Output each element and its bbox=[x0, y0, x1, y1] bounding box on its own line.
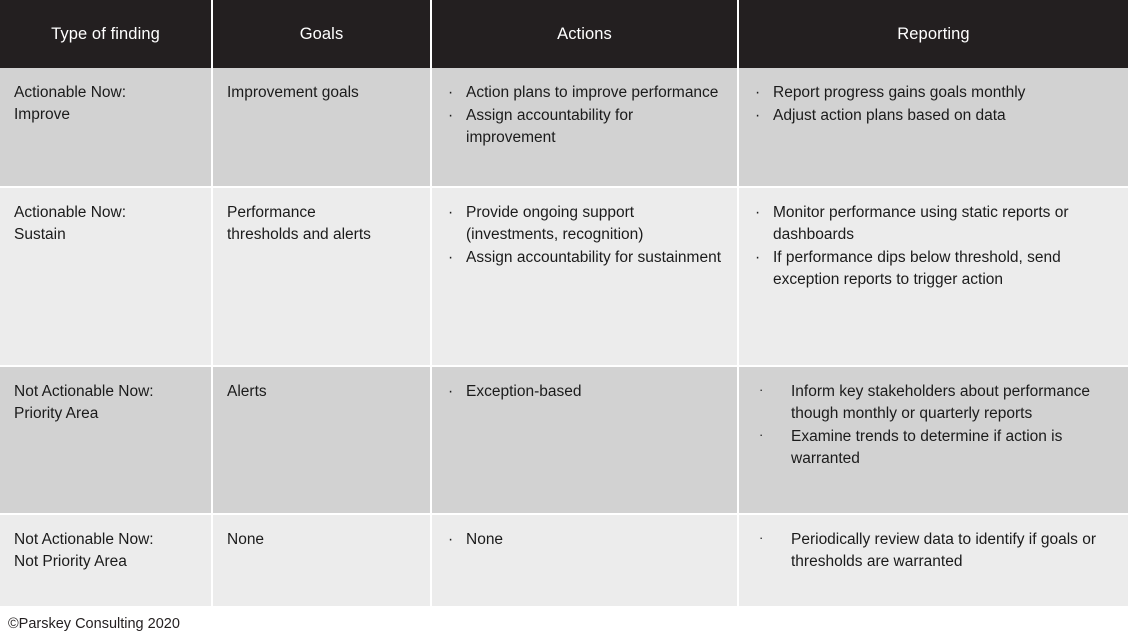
cell-actions: ·Provide ongoing support (investments, r… bbox=[432, 188, 739, 367]
cell-type-of-finding: Not Actionable Now: Priority Area bbox=[0, 367, 213, 515]
table-header-row: Type of finding Goals Actions Reporting bbox=[0, 0, 1128, 68]
bullet-dot-icon: · bbox=[448, 247, 453, 269]
actions-bullet-list: ·None bbox=[446, 529, 723, 551]
list-item-text: Examine trends to determine if action is… bbox=[791, 428, 1062, 467]
bullet-dot-icon: · bbox=[448, 82, 453, 104]
table-row: Actionable Now: Improve Improvement goal… bbox=[0, 68, 1128, 188]
reporting-bullet-list: ·Monitor performance using static report… bbox=[753, 202, 1114, 291]
type-of-finding-text: Actionable Now: Improve bbox=[14, 82, 197, 126]
list-item-text: Assign accountability for improvement bbox=[466, 107, 633, 146]
bullet-dot-icon: · bbox=[759, 529, 763, 547]
list-item: ·If performance dips below threshold, se… bbox=[753, 247, 1114, 291]
list-item-text: Exception-based bbox=[466, 383, 581, 400]
cell-type-of-finding: Actionable Now: Sustain bbox=[0, 188, 213, 367]
cell-reporting: ·Monitor performance using static report… bbox=[739, 188, 1128, 367]
list-item: ·Assign accountability for improvement bbox=[446, 105, 723, 149]
goals-text: None bbox=[227, 529, 416, 551]
actions-bullet-list: ·Action plans to improve performance ·As… bbox=[446, 82, 723, 149]
actions-bullet-list: ·Exception-based bbox=[446, 381, 723, 403]
cell-type-of-finding: Actionable Now: Improve bbox=[0, 68, 213, 188]
cell-actions: ·Exception-based bbox=[432, 367, 739, 515]
type-of-finding-text: Actionable Now: Sustain bbox=[14, 202, 197, 246]
actions-bullet-list: ·Provide ongoing support (investments, r… bbox=[446, 202, 723, 269]
bullet-dot-icon: · bbox=[755, 105, 760, 127]
reporting-bullet-list: ·Inform key stakeholders about performan… bbox=[753, 381, 1114, 470]
list-item: ·Provide ongoing support (investments, r… bbox=[446, 202, 723, 246]
bullet-dot-icon: · bbox=[759, 426, 763, 444]
copyright-note: ©Parskey Consulting 2020 bbox=[8, 616, 180, 632]
list-item-text: Provide ongoing support (investments, re… bbox=[466, 204, 643, 243]
column-header-reporting: Reporting bbox=[739, 0, 1128, 68]
list-item-text: If performance dips below threshold, sen… bbox=[773, 249, 1061, 288]
bullet-dot-icon: · bbox=[448, 105, 453, 127]
cell-goals: Performance thresholds and alerts bbox=[213, 188, 432, 367]
cell-reporting: ·Report progress gains goals monthly ·Ad… bbox=[739, 68, 1128, 188]
list-item-text: Report progress gains goals monthly bbox=[773, 84, 1025, 101]
list-item: ·Assign accountability for sustainment bbox=[446, 247, 723, 269]
cell-actions: ·None bbox=[432, 515, 739, 608]
cell-actions: ·Action plans to improve performance ·As… bbox=[432, 68, 739, 188]
list-item: ·Exception-based bbox=[446, 381, 723, 403]
bullet-dot-icon: · bbox=[448, 529, 453, 551]
list-item: ·Examine trends to determine if action i… bbox=[753, 426, 1114, 470]
list-item: ·Report progress gains goals monthly bbox=[753, 82, 1114, 104]
list-item-text: None bbox=[466, 531, 503, 548]
cell-type-of-finding: Not Actionable Now: Not Priority Area bbox=[0, 515, 213, 608]
type-of-finding-text: Not Actionable Now: Priority Area bbox=[14, 381, 197, 425]
list-item: ·Periodically review data to identify if… bbox=[753, 529, 1114, 573]
slide-canvas: Type of finding Goals Actions Reporting … bbox=[0, 0, 1128, 642]
cell-goals: Improvement goals bbox=[213, 68, 432, 188]
list-item-text: Monitor performance using static reports… bbox=[773, 204, 1068, 243]
bullet-dot-icon: · bbox=[448, 381, 453, 403]
column-header-actions: Actions bbox=[432, 0, 739, 68]
bullet-dot-icon: · bbox=[755, 247, 760, 269]
list-item: ·None bbox=[446, 529, 723, 551]
bullet-dot-icon: · bbox=[448, 202, 453, 224]
list-item-text: Assign accountability for sustainment bbox=[466, 249, 721, 266]
type-of-finding-text: Not Actionable Now: Not Priority Area bbox=[14, 529, 197, 573]
table-row: Actionable Now: Sustain Performance thre… bbox=[0, 188, 1128, 367]
findings-matrix-table: Type of finding Goals Actions Reporting … bbox=[0, 0, 1128, 608]
table-row: Not Actionable Now: Priority Area Alerts… bbox=[0, 367, 1128, 515]
goals-text: Alerts bbox=[227, 381, 416, 403]
cell-goals: None bbox=[213, 515, 432, 608]
list-item: ·Action plans to improve performance bbox=[446, 82, 723, 104]
table-body: Actionable Now: Improve Improvement goal… bbox=[0, 68, 1128, 608]
list-item-text: Action plans to improve performance bbox=[466, 84, 718, 101]
list-item: ·Monitor performance using static report… bbox=[753, 202, 1114, 246]
reporting-bullet-list: ·Periodically review data to identify if… bbox=[753, 529, 1114, 573]
goals-text: Improvement goals bbox=[227, 82, 416, 104]
column-header-type-of-finding: Type of finding bbox=[0, 0, 213, 68]
list-item-text: Periodically review data to identify if … bbox=[791, 531, 1096, 570]
list-item-text: Adjust action plans based on data bbox=[773, 107, 1006, 124]
list-item-text: Inform key stakeholders about performanc… bbox=[791, 383, 1090, 422]
reporting-bullet-list: ·Report progress gains goals monthly ·Ad… bbox=[753, 82, 1114, 127]
bullet-dot-icon: · bbox=[755, 202, 760, 224]
cell-reporting: ·Inform key stakeholders about performan… bbox=[739, 367, 1128, 515]
bullet-dot-icon: · bbox=[755, 82, 760, 104]
goals-text: Performance thresholds and alerts bbox=[227, 202, 416, 246]
cell-goals: Alerts bbox=[213, 367, 432, 515]
list-item: ·Inform key stakeholders about performan… bbox=[753, 381, 1114, 425]
table-row: Not Actionable Now: Not Priority Area No… bbox=[0, 515, 1128, 608]
list-item: ·Adjust action plans based on data bbox=[753, 105, 1114, 127]
cell-reporting: ·Periodically review data to identify if… bbox=[739, 515, 1128, 608]
column-header-goals: Goals bbox=[213, 0, 432, 68]
bullet-dot-icon: · bbox=[759, 381, 763, 399]
